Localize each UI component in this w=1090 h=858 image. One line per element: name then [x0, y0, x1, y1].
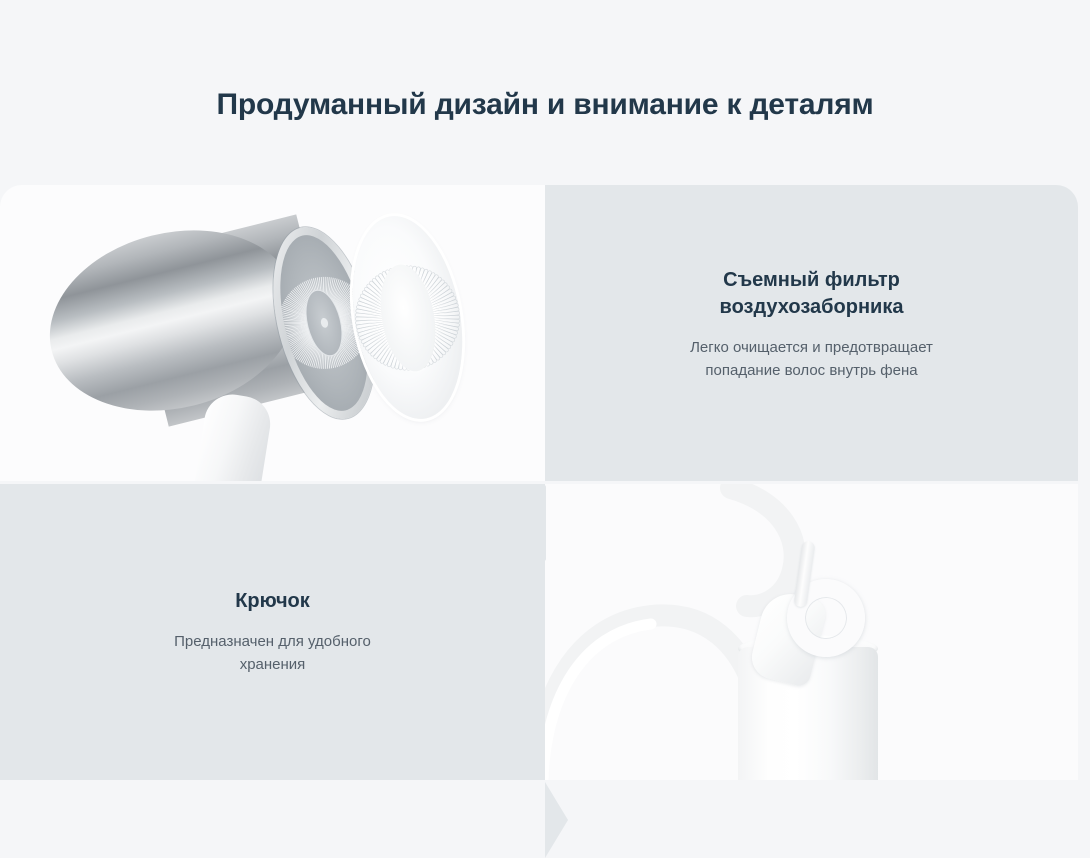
- feature-heading-line-1: Крючок: [235, 590, 310, 612]
- feature-heading-line-1: Съемный фильтр: [723, 269, 900, 291]
- feature-description-line-1: Предназначен для удобного: [174, 633, 371, 650]
- feature-description-line-1: Легко очищается и предотвращает: [690, 339, 933, 356]
- feature-heading-line-2: воздухозаборника: [720, 296, 904, 318]
- feature-grid: Съемный фильтр воздухозаборника Легко оч…: [0, 185, 1090, 780]
- callout-arrow-filter: [522, 485, 546, 561]
- feature-description-hook: Предназначен для удобного хранения: [80, 631, 465, 676]
- feature-image-panel-filter: [0, 185, 545, 481]
- feature-copy-hook: Крючок Предназначен для удобного хранени…: [0, 588, 545, 676]
- feature-copy-filter: Съемный фильтр воздухозаборника Легко оч…: [545, 267, 1078, 382]
- hook-illustration: [545, 484, 1078, 780]
- hair-dryer-illustration: [0, 185, 545, 481]
- feature-heading-filter: Съемный фильтр воздухозаборника: [635, 267, 988, 321]
- feature-image-panel-hook: [545, 484, 1078, 780]
- feature-description-line-2: хранения: [240, 656, 306, 673]
- feature-text-panel-filter: Съемный фильтр воздухозаборника Легко оч…: [545, 185, 1078, 481]
- feature-text-panel-hook: Крючок Предназначен для удобного хранени…: [0, 484, 545, 780]
- feature-heading-hook: Крючок: [80, 588, 465, 615]
- feature-description-filter: Легко очищается и предотвращает попадани…: [635, 337, 988, 382]
- page-title: Продуманный дизайн и внимание к деталям: [0, 88, 1090, 122]
- feature-description-line-2: попадание волос внутрь фена: [705, 362, 917, 379]
- callout-arrow-hook: [545, 782, 568, 858]
- right-edge-gutter: [1078, 185, 1090, 780]
